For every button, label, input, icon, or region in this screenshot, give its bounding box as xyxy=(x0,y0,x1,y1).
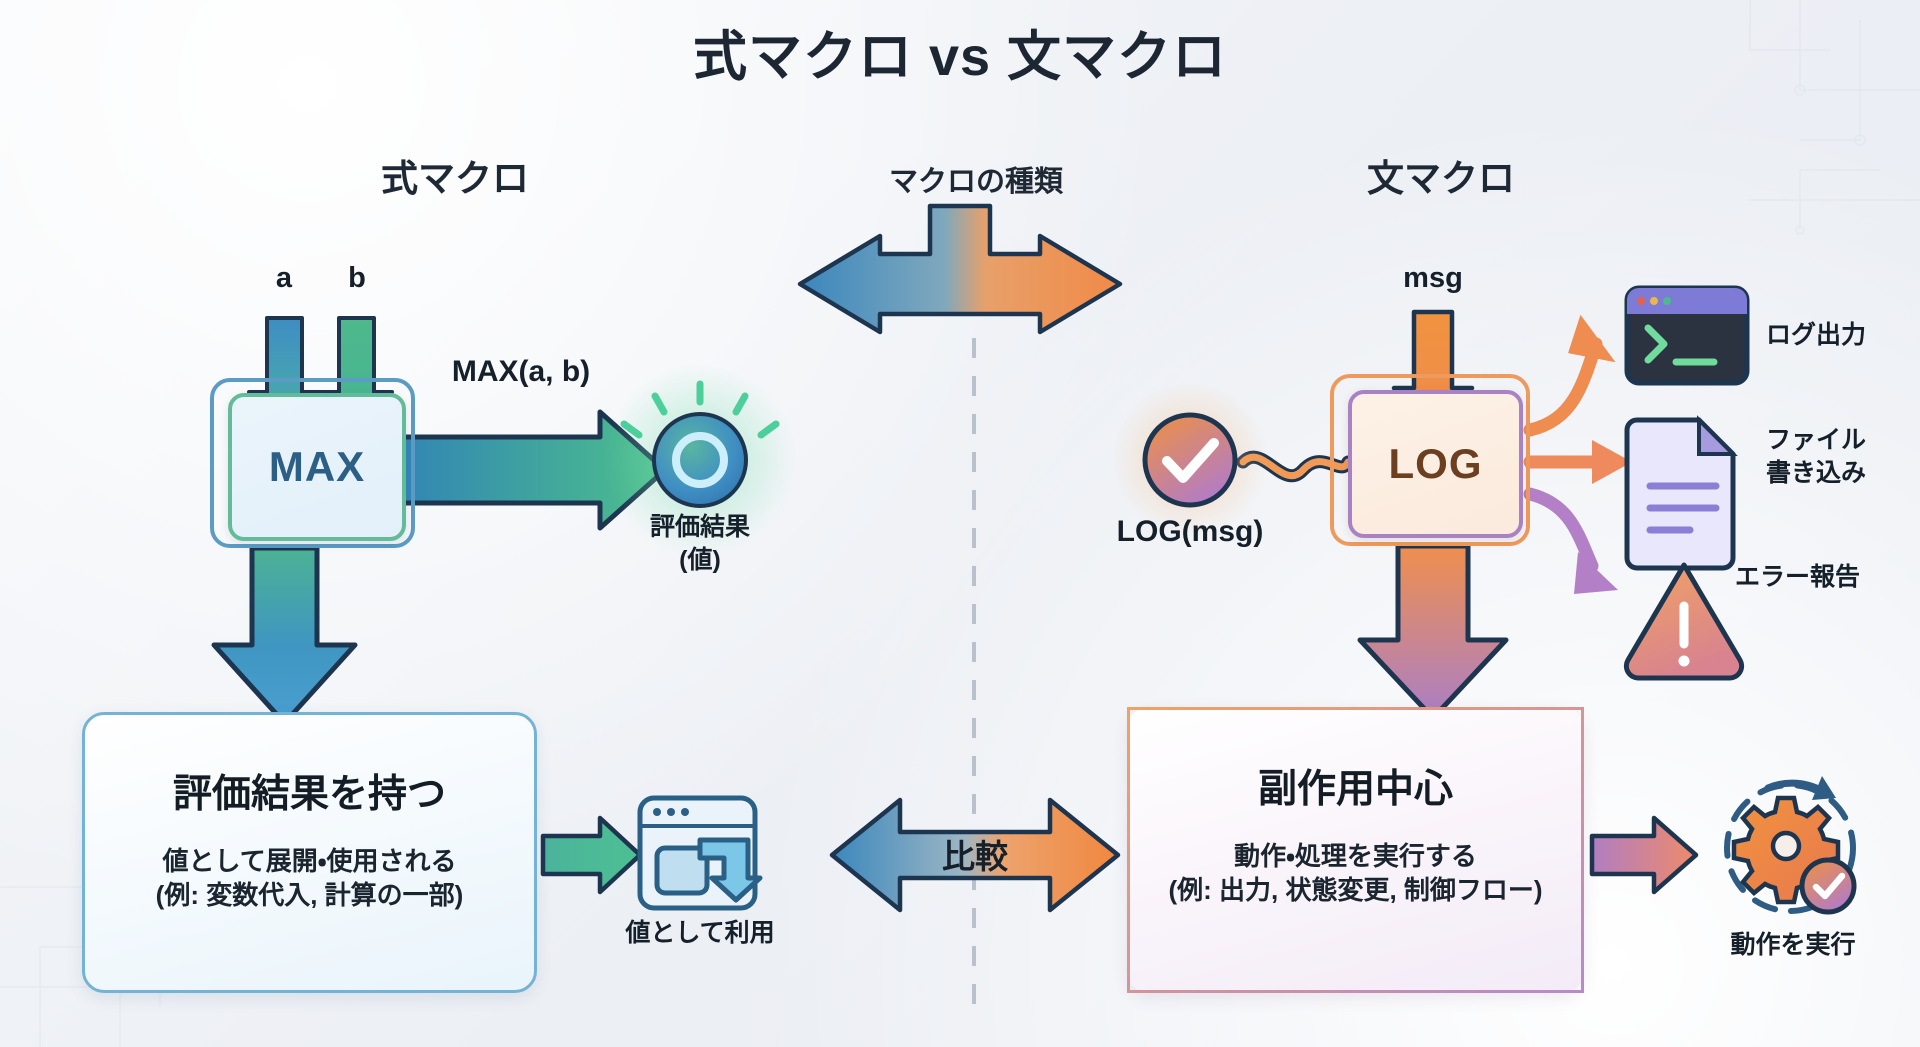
warning-triangle-icon xyxy=(1626,565,1741,678)
bidirectional-split-arrow xyxy=(800,206,1120,332)
window-return-arrow-icon xyxy=(640,798,760,908)
arrow-right-card-to-action xyxy=(1592,818,1696,892)
action-caption: 動作を実行 xyxy=(1730,930,1855,961)
page-title: 式マクロ vs 文マクロ xyxy=(693,12,1227,91)
terminal-icon xyxy=(1627,288,1747,383)
left-card-title: 評価結果を持つ xyxy=(85,763,534,819)
diagram-canvas: 式マクロ vs 文マクロ 式マクロ マクロの種類 文マクロ a b MAX MA… xyxy=(0,0,1920,1047)
input-label-msg: msg xyxy=(1403,262,1463,295)
value-caption-line1: 評価結果 xyxy=(650,512,750,544)
max-macro-label: MAX xyxy=(269,443,365,491)
column-heading-left: 式マクロ xyxy=(381,148,529,202)
effect-label-file-write-line1: ファイル xyxy=(1766,425,1866,456)
statement-macro-summary-card[interactable]: 副作用中心 動作・処理を実行する (例: 出力, 状態変更, 制御フロー) xyxy=(1127,707,1584,993)
left-card-sub-line1: 値として展開・使用される xyxy=(85,845,534,879)
right-card-title: 副作用中心 xyxy=(1130,758,1581,814)
max-call-label: MAX(a, b) xyxy=(452,355,590,389)
usage-caption: 値として利用 xyxy=(625,918,774,949)
right-card-sub-line1: 動作・処理を実行する xyxy=(1130,840,1581,874)
max-macro-box[interactable]: MAX xyxy=(228,393,406,541)
gear-check-refresh-icon xyxy=(1727,776,1854,912)
arrow-log-to-file xyxy=(1530,440,1632,484)
effect-label-file-write-line2: 書き込み xyxy=(1766,458,1866,489)
arrow-log-to-error xyxy=(1530,494,1618,594)
right-card-sub-line2: (例: 出力, 状態変更, 制御フロー) xyxy=(1130,874,1581,908)
input-label-b: b xyxy=(348,262,366,295)
column-heading-middle: マクロの種類 xyxy=(889,158,1063,200)
document-lines-icon xyxy=(1627,420,1733,568)
input-label-a: a xyxy=(276,262,292,295)
arrow-left-card-to-usage xyxy=(543,818,640,892)
effect-label-error-report: エラー報告 xyxy=(1735,562,1860,593)
effect-label-log-output: ログ出力 xyxy=(1766,320,1866,351)
arrow-max-to-left-card xyxy=(214,548,355,723)
value-caption-line2: (値) xyxy=(679,545,721,577)
log-call-label: LOG(msg) xyxy=(1117,515,1264,549)
left-card-sub-line2: (例: 変数代入, 計算の一部) xyxy=(85,879,534,913)
compare-label: 比較 xyxy=(942,830,1008,878)
arrow-log-to-terminal xyxy=(1530,318,1612,430)
arrow-log-to-right-card xyxy=(1360,546,1506,718)
log-macro-label: LOG xyxy=(1389,440,1483,488)
log-macro-box[interactable]: LOG xyxy=(1348,390,1523,538)
column-heading-right: 文マクロ xyxy=(1367,148,1515,202)
expression-macro-summary-card[interactable]: 評価結果を持つ 値として展開・使用される (例: 変数代入, 計算の一部) xyxy=(82,712,537,993)
